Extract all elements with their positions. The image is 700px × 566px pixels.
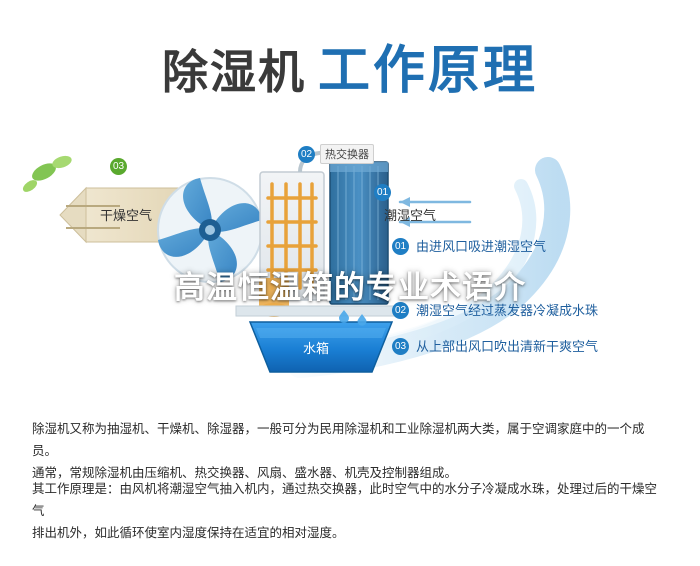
- body-p1-line1: 除湿机又称为抽湿机、干燥机、除湿器，一般可分为民用除湿机和工业除湿机两大类，属于…: [32, 418, 668, 462]
- badge-01-humid-air: 01: [374, 184, 391, 201]
- label-dry-air: 干燥空气: [100, 205, 152, 224]
- overlay-headline: 高温恒温箱的专业术语介: [0, 262, 700, 307]
- badge-step-03: 03: [392, 338, 409, 355]
- label-heat-exchanger: 热交换器: [320, 144, 374, 164]
- dehumidifier-diagram: 03 02 01 01 02 03 干燥空气 热交换器 潮湿空气 水箱 由进风口…: [0, 110, 700, 400]
- body-paragraph-2: 其工作原理是：由风机将潮湿空气抽入机内，通过热交换器，此时空气中的水分子冷凝成水…: [32, 478, 668, 544]
- badge-02-heat-exchanger: 02: [298, 146, 315, 163]
- poster-page: 除湿机工作原理: [0, 0, 700, 566]
- label-step-03: 从上部出风口吹出清新干爽空气: [416, 336, 598, 355]
- label-water-tank: 水箱: [303, 338, 329, 357]
- body-p2-line2: 排出机外，如此循环使室内湿度保持在适宜的相对湿度。: [32, 522, 668, 544]
- badge-03-dry-air: 03: [110, 158, 127, 175]
- body-p2-line1: 其工作原理是：由风机将潮湿空气抽入机内，通过热交换器，此时空气中的水分子冷凝成水…: [32, 478, 668, 522]
- label-humid-air: 潮湿空气: [384, 205, 436, 224]
- title-accent-text: 工作原理: [318, 42, 538, 100]
- label-step-01: 由进风口吸进潮湿空气: [416, 236, 546, 255]
- poster-title: 除湿机工作原理: [0, 28, 700, 103]
- body-paragraph-1: 除湿机又称为抽湿机、干燥机、除湿器，一般可分为民用除湿机和工业除湿机两大类，属于…: [32, 418, 668, 484]
- badge-step-01: 01: [392, 238, 409, 255]
- title-main-text: 除湿机: [162, 46, 306, 98]
